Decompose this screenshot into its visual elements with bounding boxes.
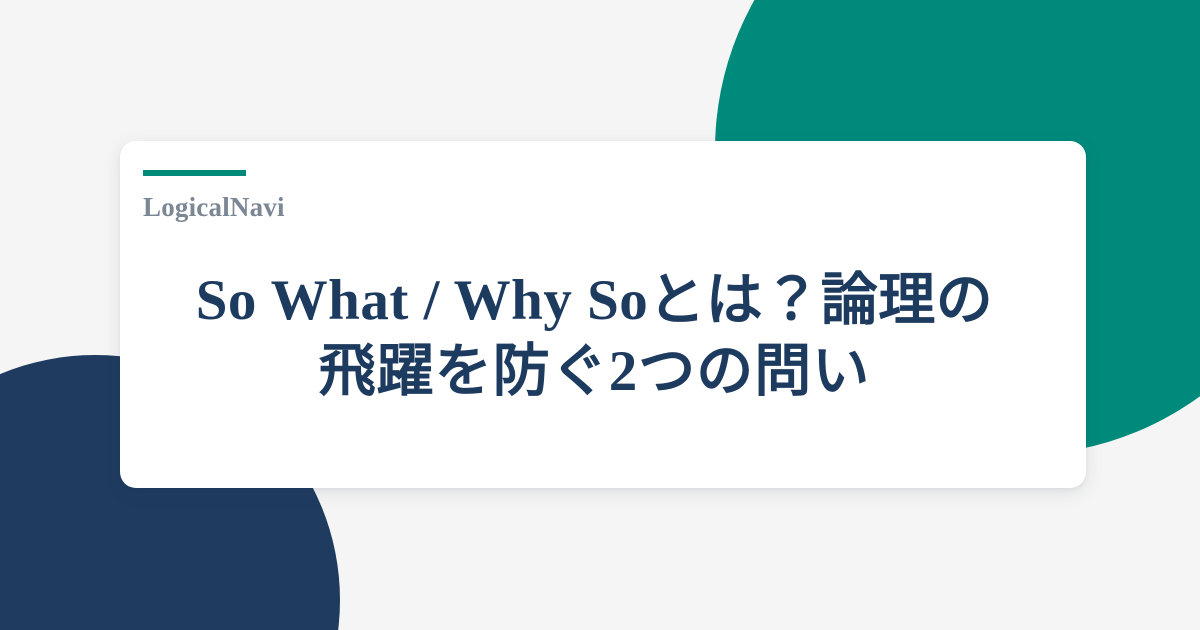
page-title: So What / Why Soとは？論理の 飛躍を防ぐ2つの問い — [196, 265, 994, 409]
page-title-line-1: So What / Why Soとは？論理の — [196, 265, 994, 337]
og-image-canvas: LogicalNavi So What / Why Soとは？論理の 飛躍を防ぐ… — [0, 0, 1200, 630]
content-card: LogicalNavi So What / Why Soとは？論理の 飛躍を防ぐ… — [120, 141, 1086, 488]
title-container: So What / Why Soとは？論理の 飛躍を防ぐ2つの問い — [143, 223, 1046, 454]
site-logo-text: LogicalNavi — [143, 193, 1046, 223]
brand-block: LogicalNavi — [143, 170, 1046, 223]
page-title-line-2: 飛躍を防ぐ2つの問い — [196, 336, 994, 408]
accent-bar — [143, 170, 246, 176]
